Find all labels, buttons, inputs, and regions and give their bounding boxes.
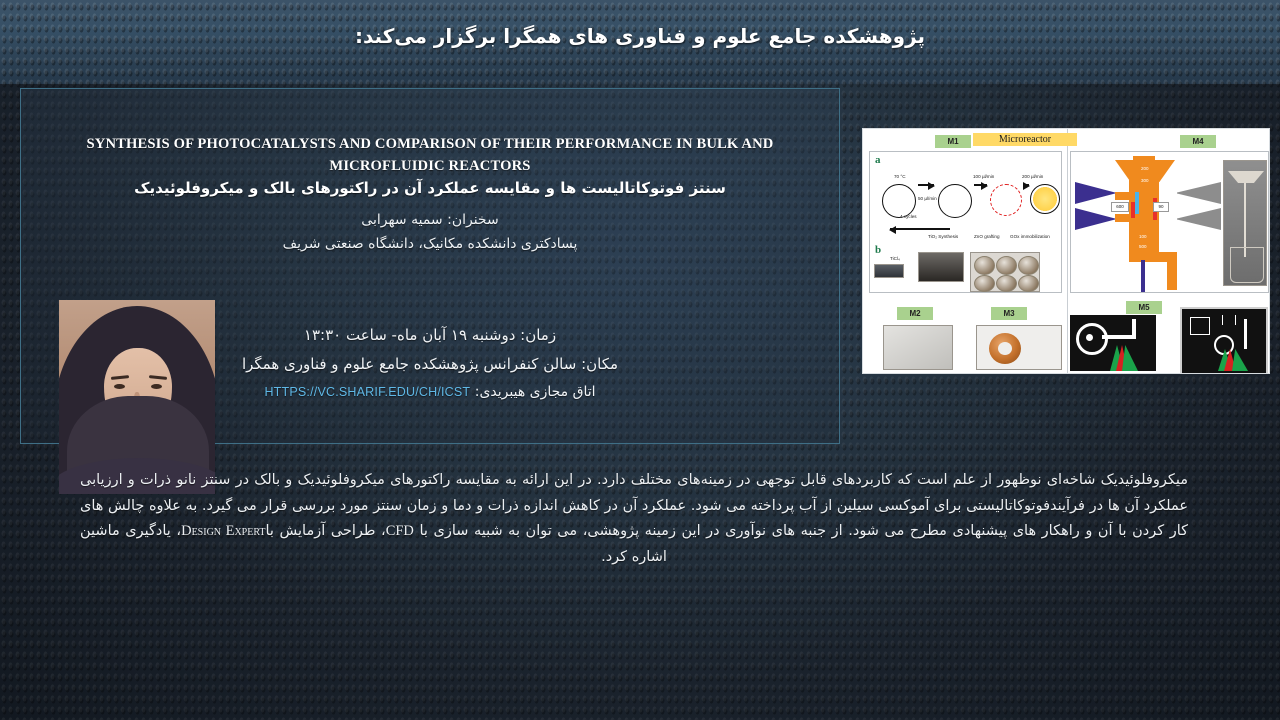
arrow-2: [974, 184, 987, 186]
pump-device: [874, 264, 904, 278]
caption-zno: ZnO grafting: [974, 234, 1000, 239]
virtual-room-link[interactable]: HTTPS://VC.SHARIF.EDU/CH/ICST: [264, 385, 470, 399]
arrow-3: [1023, 184, 1029, 186]
talk-title-persian: سنتز فوتوکاتالیست ها و مقایسه عملکرد آن …: [31, 179, 829, 197]
speaker-affiliation: پسادکتری دانشکده مکانیک، دانشگاه صنعتی ش…: [31, 236, 829, 252]
term-cfd: CFD: [386, 523, 414, 539]
caption-ticl4: TiCl₄: [890, 256, 900, 261]
arrow-recycle: [890, 228, 950, 230]
speaker-photo: [59, 300, 215, 494]
figure-right-column: Microreactor M4 600 90: [1068, 129, 1270, 373]
term-design-expert: Design Expert: [181, 523, 265, 539]
talk-title-english: Synthesis of photocatalysts and comparis…: [31, 133, 829, 177]
research-figure: M1 a 70 °C 50 µl/min 100 µl/min 200 µl/m…: [862, 128, 1270, 374]
chip-photo-m2: [883, 325, 953, 370]
caption-gox: GOx immobilization: [1010, 234, 1050, 239]
figure-subbox-a: a 70 °C 50 µl/min 100 µl/min 200 µl/min …: [869, 151, 1062, 293]
header-band: پژوهشکده جامع علوم و فناوری های همگرا بر…: [0, 0, 1280, 84]
device-photo-m4: [1223, 160, 1267, 286]
caption-cycles: 4 cycles: [900, 214, 917, 219]
jet-panel-left: [1070, 315, 1156, 371]
slide-root: پژوهشکده جامع علوم و فناوری های همگرا بر…: [0, 0, 1280, 720]
figure-tag-m4: M4: [1180, 135, 1216, 148]
announcement-panel: Synthesis of photocatalysts and comparis…: [20, 88, 840, 444]
mr-number-500: 500: [1139, 244, 1147, 249]
circle-step-2: [938, 184, 972, 218]
circle-step-3: [990, 184, 1022, 216]
circle-step-1: [882, 184, 916, 218]
mr-number-90: 90: [1153, 202, 1169, 212]
figure-panel-letter-a: a: [875, 154, 881, 166]
figure-tag-m2: M2: [897, 307, 933, 320]
caption-p100: 100 µl/min: [973, 174, 994, 179]
circle-step-4: [1030, 184, 1060, 214]
jet-panel-right: [1180, 307, 1268, 374]
figure-subbox-microreactor: 600 90 200 300 100 500: [1070, 151, 1269, 293]
dish-tray-image: [970, 252, 1040, 292]
caption-p50: 50 µl/min: [918, 196, 937, 201]
caption-p200: 200 µl/min: [1022, 174, 1043, 179]
caption-tio2: TiO₂ Synthesis: [928, 234, 958, 239]
mr-number-200: 200: [1141, 166, 1149, 171]
abstract-paragraph: میکروفلوئیدیک شاخه‌ای نوظهور از علم است …: [80, 468, 1188, 570]
abstract-text-2: ، طراحی آزمایش با: [266, 523, 386, 539]
mr-number-100: 100: [1139, 234, 1147, 239]
caption-temp: 70 °C: [894, 174, 906, 179]
figure-tag-m5: M5: [1126, 301, 1162, 314]
sem-image: [918, 252, 964, 282]
arrow-1: [918, 184, 934, 186]
figure-tag-microreactor: Microreactor: [973, 133, 1077, 146]
speaker-name: سخنران: سمیه سهرابی: [31, 212, 829, 228]
mr-number-300: 300: [1141, 178, 1149, 183]
page-title: پژوهشکده جامع علوم و فناوری های همگرا بر…: [0, 24, 1280, 48]
mr-number-600: 600: [1111, 202, 1129, 212]
figure-tag-m1: M1: [935, 135, 971, 148]
chip-photo-m3: [976, 325, 1062, 370]
figure-left-column: M1 a 70 °C 50 µl/min 100 µl/min 200 µl/m…: [863, 129, 1068, 373]
virtual-room-label: اتاق مجازی هیبریدی:: [475, 384, 596, 400]
figure-tag-m3: M3: [991, 307, 1027, 320]
figure-panel-letter-b: b: [875, 244, 881, 256]
